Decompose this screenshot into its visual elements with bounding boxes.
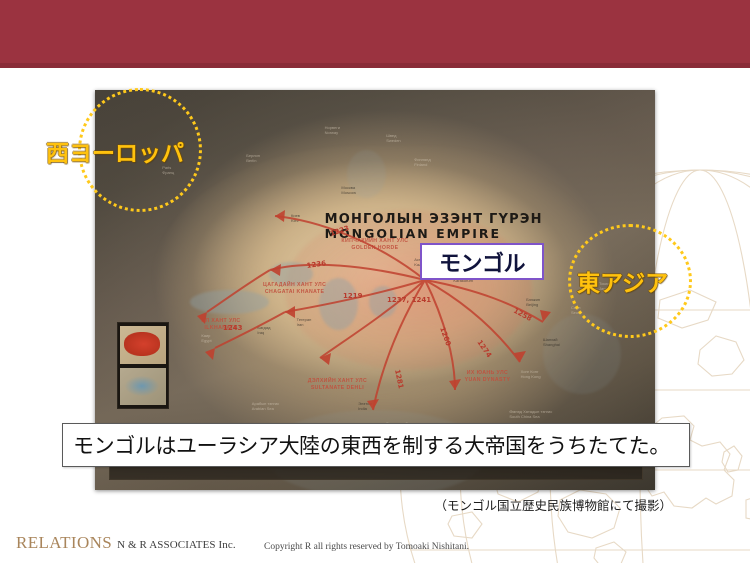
caption-box: モンゴルはユーラシア大陸の東西を制する大帝国をうちたてた。 [62, 423, 690, 467]
brand-subtitle: N & R ASSOCIATES Inc. [117, 539, 236, 551]
mongol-callout-box: モンゴル [420, 243, 544, 280]
caption-text: モンゴルはユーラシア大陸の東西を制する大帝国をうちたてた。 [73, 430, 670, 460]
svg-text:1258: 1258 [512, 307, 533, 323]
slide-footer: RELATIONSN & R ASSOCIATES Inc. Copyright… [0, 523, 750, 563]
map-inset-panel [117, 322, 169, 409]
inset-mini-map-top [120, 326, 166, 364]
annotation-label-west-europe: 西ヨーロッパ [46, 134, 184, 168]
inset-mini-map-bottom [120, 368, 166, 405]
svg-text:1237, 1241: 1237, 1241 [387, 296, 431, 304]
svg-text:1219: 1219 [343, 292, 363, 300]
svg-text:1236: 1236 [306, 259, 327, 270]
photo-credit: （モンゴル国立歴史民族博物館にて撮影） [434, 495, 672, 514]
slide-title-bar [0, 0, 750, 63]
slide-title-underline [0, 63, 750, 68]
svg-text:1260: 1260 [438, 326, 452, 347]
copyright-text: Copyright R all rights reserved by Tomoa… [264, 542, 469, 552]
annotation-label-east-asia: 東アジア [577, 264, 668, 298]
svg-text:1243: 1243 [223, 324, 243, 332]
brand-logo: RELATIONSN & R ASSOCIATES Inc. [16, 533, 236, 553]
mongol-callout-label: モンゴル [439, 246, 525, 278]
svg-text:1274: 1274 [475, 339, 493, 360]
svg-text:1281: 1281 [393, 369, 405, 390]
brand-name: RELATIONS [16, 533, 112, 552]
